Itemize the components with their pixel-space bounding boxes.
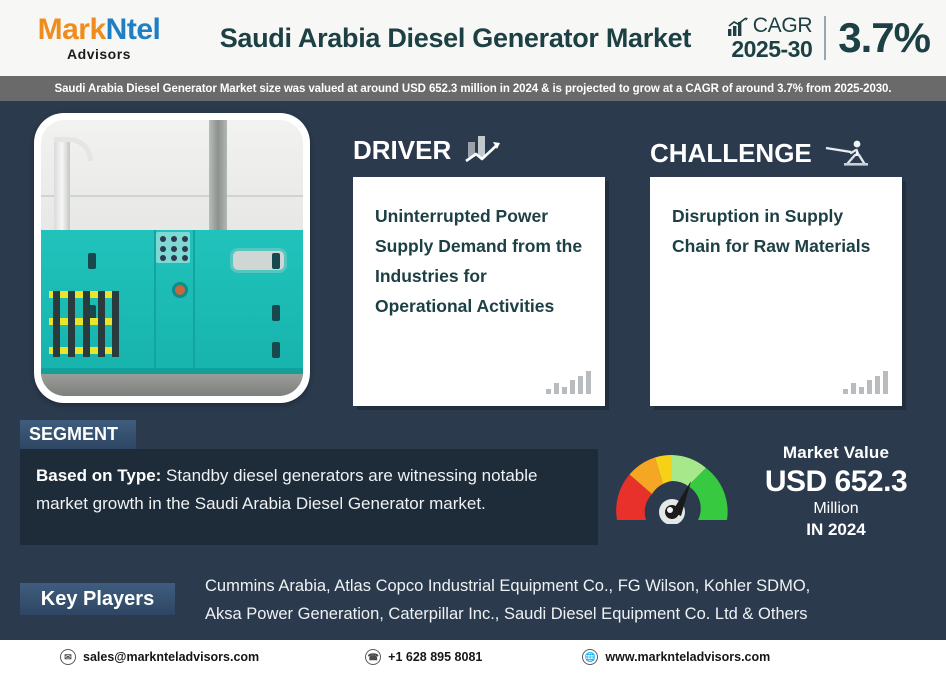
envelope-icon: ✉: [60, 649, 76, 665]
logo-mark-text: Mark: [38, 13, 106, 46]
footer-email[interactable]: ✉ sales@marknteladvisors.com: [60, 649, 259, 665]
page-title: Saudi Arabia Diesel Generator Market: [174, 23, 727, 54]
person-pushing-icon: [824, 139, 870, 169]
cagr-label: CAGR: [753, 15, 812, 37]
key-players-list: Cummins Arabia, Atlas Copco Industrial E…: [205, 572, 915, 629]
key-players-line-2: Aksa Power Generation, Caterpillar Inc.,…: [205, 600, 915, 628]
footer-phone[interactable]: ☎ +1 628 895 8081: [365, 649, 482, 665]
generator-photo-frame: [34, 113, 310, 403]
cagr-top-row: CAGR: [727, 15, 812, 37]
challenge-heading: CHALLENGE: [650, 138, 870, 169]
cagr-divider: [824, 16, 826, 60]
segment-lead: Based on Type:: [36, 466, 161, 485]
bar-chart-icon: [546, 371, 591, 394]
logo-ntel-text: Ntel: [106, 13, 161, 46]
driver-heading-label: DRIVER: [353, 135, 451, 166]
company-logo[interactable]: MarkNtel Advisors: [24, 15, 174, 61]
cagr-value: 3.7%: [838, 14, 930, 62]
driver-card-text: Uninterrupted Power Supply Demand from t…: [375, 201, 583, 321]
driver-card: Uninterrupted Power Supply Demand from t…: [353, 177, 605, 406]
footer-email-text: sales@marknteladvisors.com: [83, 650, 259, 664]
cagr-years: 2025-30: [727, 37, 812, 61]
challenge-heading-label: CHALLENGE: [650, 138, 812, 169]
market-value-block: Market Value USD 652.3 Million IN 2024: [746, 443, 926, 540]
photo-ground: [41, 374, 303, 396]
segment-box: Based on Type: Standby diesel generators…: [20, 449, 598, 545]
subtitle-strip: Saudi Arabia Diesel Generator Market siz…: [0, 76, 946, 101]
photo-safety-rail: [49, 291, 117, 357]
cagr-text-group: CAGR 2025-30: [727, 15, 812, 61]
photo-wall-seam: [41, 195, 303, 197]
bar-chart-arrow-up-icon: [463, 134, 507, 166]
segment-text: Based on Type: Standby diesel generators…: [36, 462, 582, 517]
generator-photo: [41, 120, 303, 396]
market-value-amount: USD 652.3: [746, 465, 926, 499]
market-value-year: IN 2024: [746, 520, 926, 540]
footer-bar: ✉ sales@marknteladvisors.com ☎ +1 628 89…: [0, 640, 946, 674]
header-bar: MarkNtel Advisors Saudi Arabia Diesel Ge…: [0, 0, 946, 76]
bar-chart-up-icon: [727, 17, 749, 37]
market-value-unit: Million: [746, 500, 926, 518]
market-value-label: Market Value: [746, 443, 926, 463]
footer-website-text: www.marknteladvisors.com: [605, 650, 770, 664]
speedometer-gauge-icon: [611, 450, 733, 524]
challenge-card-text: Disruption in Supply Chain for Raw Mater…: [672, 201, 880, 261]
footer-website[interactable]: 🌐 www.marknteladvisors.com: [582, 649, 770, 665]
photo-control-panel: [156, 232, 190, 264]
segment-badge: SEGMENT: [20, 420, 136, 449]
bar-chart-icon: [843, 371, 888, 394]
key-players-line-1: Cummins Arabia, Atlas Copco Industrial E…: [205, 572, 915, 600]
photo-gauge-port: [172, 282, 188, 298]
cagr-block: CAGR 2025-30 3.7%: [727, 14, 930, 62]
driver-heading: DRIVER: [353, 134, 507, 166]
logo-subtitle: Advisors: [24, 47, 174, 61]
challenge-card: Disruption in Supply Chain for Raw Mater…: [650, 177, 902, 406]
key-players-badge: Key Players: [20, 583, 175, 615]
globe-icon: 🌐: [582, 649, 598, 665]
footer-phone-text: +1 628 895 8081: [388, 650, 482, 664]
infographic-page: MarkNtel Advisors Saudi Arabia Diesel Ge…: [0, 0, 946, 674]
logo-wordmark: MarkNtel: [24, 15, 174, 45]
phone-icon: ☎: [365, 649, 381, 665]
